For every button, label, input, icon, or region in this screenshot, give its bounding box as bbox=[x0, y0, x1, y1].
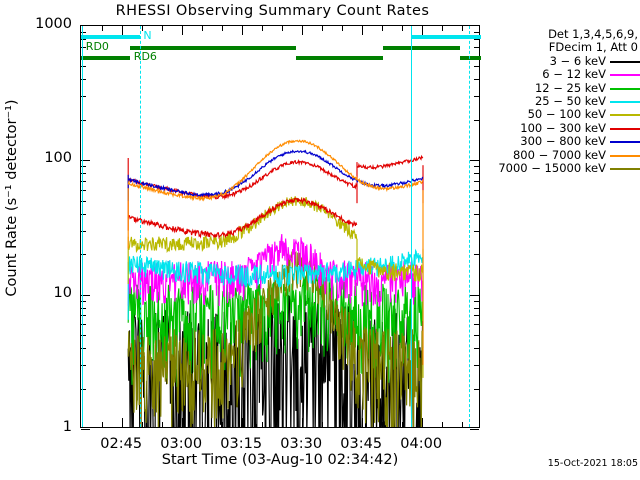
x-tick-top bbox=[242, 26, 243, 35]
series-line bbox=[128, 196, 357, 251]
legend-color-swatch bbox=[610, 74, 640, 76]
render-timestamp: 15-Oct-2021 18:05 bbox=[480, 458, 638, 469]
x-tick-minor bbox=[162, 422, 163, 427]
y-tick-right bbox=[470, 295, 479, 296]
x-tick-minor bbox=[222, 422, 223, 427]
y-tick-right bbox=[474, 201, 479, 202]
legend-entry-label: 800 − 7000 keV bbox=[513, 148, 606, 162]
legend-entry: 50 − 100 keV bbox=[495, 108, 640, 121]
night-boundary-line bbox=[411, 26, 412, 427]
x-tick-minor bbox=[402, 422, 403, 427]
y-tick-right bbox=[474, 47, 479, 48]
y-tick-right bbox=[474, 120, 479, 121]
y-tick-right bbox=[474, 389, 479, 390]
x-tick bbox=[422, 418, 423, 427]
y-tick-right bbox=[474, 324, 479, 325]
x-tick-top bbox=[302, 26, 303, 35]
legend-entry: 7000 − 15000 keV bbox=[495, 162, 640, 175]
legend: Det 1,3,4,5,6,9, FDecim 1, Att 0 3 − 6 k… bbox=[495, 28, 640, 175]
x-tick-minor bbox=[342, 422, 343, 427]
y-tick-right bbox=[474, 166, 479, 167]
legend-entry: 25 − 50 keV bbox=[495, 95, 640, 108]
x-tick-minor bbox=[282, 422, 283, 427]
x-tick-minor-top bbox=[222, 26, 223, 31]
legend-color-swatch bbox=[610, 128, 640, 130]
legend-entry-label: 25 − 50 keV bbox=[535, 94, 606, 108]
x-tick-minor bbox=[382, 422, 383, 427]
legend-entry: 12 − 25 keV bbox=[495, 82, 640, 95]
x-tick-minor-top bbox=[282, 26, 283, 31]
legend-config-line: FDecim 1, Att 0 bbox=[495, 41, 640, 54]
x-tick-minor bbox=[462, 422, 463, 427]
x-tick-minor-top bbox=[162, 26, 163, 31]
y-tick-right bbox=[474, 348, 479, 349]
y-tick-right bbox=[474, 214, 479, 215]
night-label: N bbox=[143, 29, 151, 42]
legend-entry-label: 50 − 100 keV bbox=[528, 107, 606, 121]
rd6-bar bbox=[460, 56, 481, 60]
x-tick-minor-top bbox=[102, 26, 103, 31]
legend-entry: 3 − 6 keV bbox=[495, 55, 640, 68]
page-title: RHESSI Observing Summary Count Rates bbox=[0, 3, 545, 19]
night-boundary-line bbox=[140, 26, 141, 427]
x-tick-minor bbox=[262, 422, 263, 427]
y-tick-right bbox=[474, 32, 479, 33]
rd6-label: RD6 bbox=[134, 50, 157, 63]
y-tick-right bbox=[474, 96, 479, 97]
x-tick-minor-top bbox=[442, 26, 443, 31]
x-tick-top bbox=[362, 26, 363, 35]
legend-color-swatch bbox=[610, 101, 640, 103]
y-tick-right bbox=[474, 173, 479, 174]
y-tick-label: 1 bbox=[0, 419, 80, 435]
x-tick-minor bbox=[102, 422, 103, 427]
series-line bbox=[357, 156, 423, 168]
legend-entry-label: 3 − 6 keV bbox=[550, 54, 606, 68]
x-tick-top bbox=[422, 26, 423, 35]
x-tick-minor-top bbox=[322, 26, 323, 31]
chart-page: RHESSI Observing Summary Count Rates NRD… bbox=[0, 0, 640, 480]
y-tick-right bbox=[474, 66, 479, 67]
y-tick-right bbox=[474, 231, 479, 232]
legend-color-swatch bbox=[610, 88, 640, 90]
legend-entry-label: 12 − 25 keV bbox=[535, 81, 606, 95]
x-tick-minor-top bbox=[262, 26, 263, 31]
night-boundary-line bbox=[82, 26, 83, 427]
x-tick bbox=[182, 418, 183, 427]
x-tick bbox=[302, 418, 303, 427]
y-tick-right bbox=[474, 301, 479, 302]
y-tick-right bbox=[474, 308, 479, 309]
plot-frame: NRD0RD6 bbox=[80, 25, 480, 428]
x-tick-minor-top bbox=[382, 26, 383, 31]
legend-entry-label: 7000 − 15000 keV bbox=[498, 161, 606, 175]
x-tick-label: 04:00 bbox=[381, 436, 461, 452]
x-tick-top bbox=[182, 26, 183, 35]
y-tick-right bbox=[470, 429, 479, 430]
x-tick-minor bbox=[202, 422, 203, 427]
x-tick-minor bbox=[442, 422, 443, 427]
x-tick-minor-top bbox=[462, 26, 463, 31]
x-axis-title: Start Time (03-Aug-10 02:34:42) bbox=[80, 452, 480, 468]
rd0-label: RD0 bbox=[86, 40, 109, 53]
x-tick-minor bbox=[322, 422, 323, 427]
y-tick-right bbox=[474, 315, 479, 316]
x-tick-minor bbox=[142, 422, 143, 427]
y-tick bbox=[81, 429, 90, 430]
x-tick-minor-top bbox=[342, 26, 343, 31]
legend-entry: 100 − 300 keV bbox=[495, 122, 640, 135]
y-tick-right bbox=[474, 365, 479, 366]
rd6-bar bbox=[81, 56, 130, 60]
legend-entry: 300 − 800 keV bbox=[495, 135, 640, 148]
rd6-bar bbox=[296, 56, 383, 60]
y-tick-right bbox=[474, 335, 479, 336]
x-tick bbox=[122, 418, 123, 427]
x-tick-minor-top bbox=[402, 26, 403, 31]
legend-color-swatch bbox=[610, 61, 640, 63]
legend-color-swatch bbox=[610, 168, 640, 170]
legend-detector-line: Det 1,3,4,5,6,9, bbox=[495, 28, 640, 41]
y-tick-right bbox=[474, 254, 479, 255]
legend-color-swatch bbox=[610, 155, 640, 157]
y-tick-right bbox=[474, 39, 479, 40]
x-tick-top bbox=[122, 26, 123, 35]
legend-color-swatch bbox=[610, 114, 640, 116]
y-tick-right bbox=[474, 181, 479, 182]
legend-entry-label: 6 − 12 keV bbox=[542, 67, 606, 81]
night-boundary-line bbox=[469, 26, 470, 427]
legend-entry-label: 300 − 800 keV bbox=[520, 134, 606, 148]
y-tick-right bbox=[470, 160, 479, 161]
legend-entry-label: 100 − 300 keV bbox=[520, 121, 606, 135]
y-tick-right bbox=[474, 190, 479, 191]
y-tick-right bbox=[474, 79, 479, 80]
x-tick bbox=[362, 418, 363, 427]
x-tick bbox=[242, 418, 243, 427]
night-bar bbox=[81, 35, 140, 39]
legend-entry: 800 − 7000 keV bbox=[495, 149, 640, 162]
legend-entries: 3 − 6 keV6 − 12 keV12 − 25 keV25 − 50 ke… bbox=[495, 55, 640, 176]
night-bar bbox=[411, 35, 481, 39]
x-tick-minor-top bbox=[202, 26, 203, 31]
rd0-bar bbox=[383, 46, 459, 50]
legend-entry: 6 − 12 keV bbox=[495, 68, 640, 81]
y-axis-title: Count Rate (s⁻¹ detector⁻¹) bbox=[4, 18, 20, 378]
legend-color-swatch bbox=[610, 141, 640, 143]
